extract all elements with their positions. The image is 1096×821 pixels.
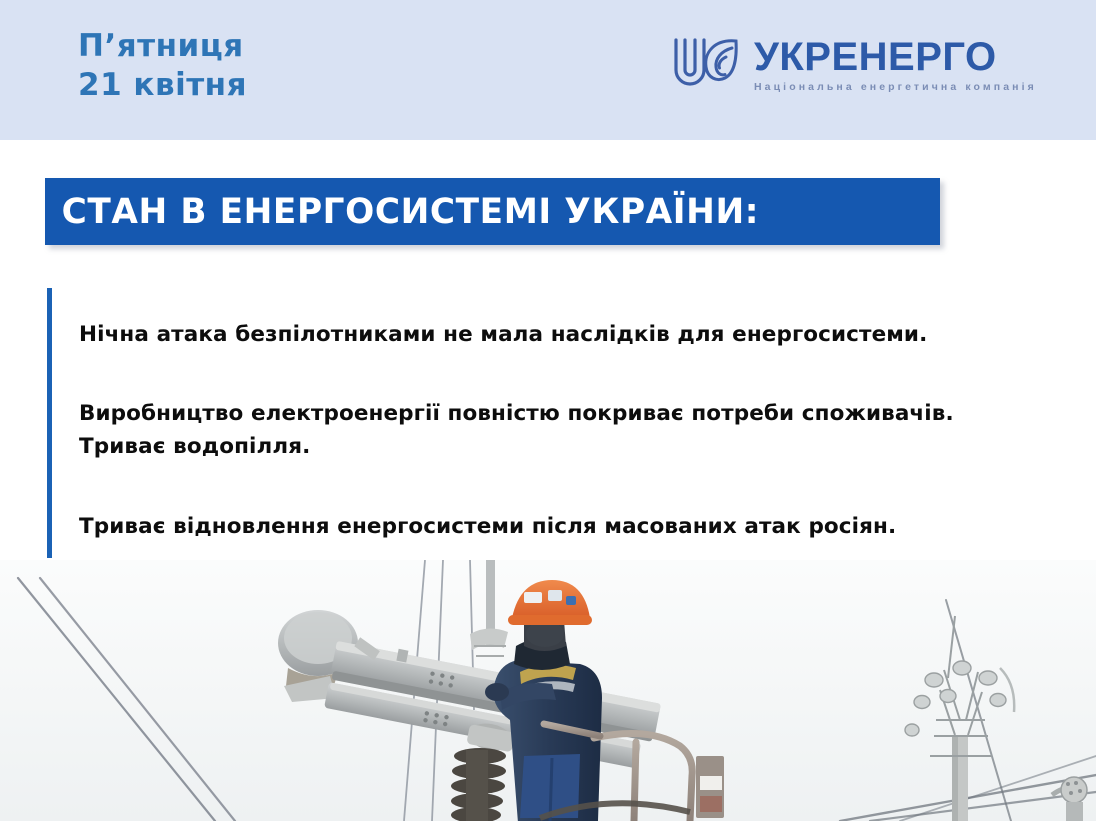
date-day-month: 21 квітня: [78, 66, 247, 105]
paragraph-2-line-2: Триває водопілля.: [79, 431, 1039, 464]
photo-lineman-repairing-disconnector: [0, 560, 1096, 821]
paragraph-1-line-1: Нічна атака безпілотниками не мала наслі…: [79, 319, 1039, 352]
logo-tagline: Національна енергетична компанія: [754, 82, 1037, 93]
page-title: СТАН В ЕНЕРГОСИСТЕМІ УКРАЇНИ:: [45, 192, 759, 232]
date-block: П’ятниця 21 квітня: [78, 27, 247, 105]
logo-text-wrap: УКРЕНЕРГО Національна енергетична компан…: [754, 37, 1037, 93]
header-band: П’ятниця 21 квітня УКРЕНЕРГО Національна…: [0, 0, 1096, 140]
ukrenergo-logo-mark-icon: [668, 34, 742, 96]
paragraph-2-line-1: Виробництво електроенергії повністю покр…: [79, 398, 1039, 431]
title-banner: СТАН В ЕНЕРГОСИСТЕМІ УКРАЇНИ:: [45, 178, 940, 245]
date-weekday: П’ятниця: [78, 27, 247, 66]
paragraph-1: Нічна атака безпілотниками не мала наслі…: [79, 319, 1039, 352]
body-copy: Нічна атака безпілотниками не мала наслі…: [79, 297, 1039, 565]
paragraph-3-line-1: Триває відновлення енергосистеми після м…: [79, 511, 1039, 544]
paragraph-2: Виробництво електроенергії повністю покр…: [79, 398, 1039, 463]
accent-bar: [47, 288, 52, 558]
logo-wordmark: УКРЕНЕРГО: [754, 37, 1037, 77]
ukrenergo-logo: УКРЕНЕРГО Національна енергетична компан…: [668, 34, 1037, 96]
paragraph-3: Триває відновлення енергосистеми після м…: [79, 511, 1039, 544]
